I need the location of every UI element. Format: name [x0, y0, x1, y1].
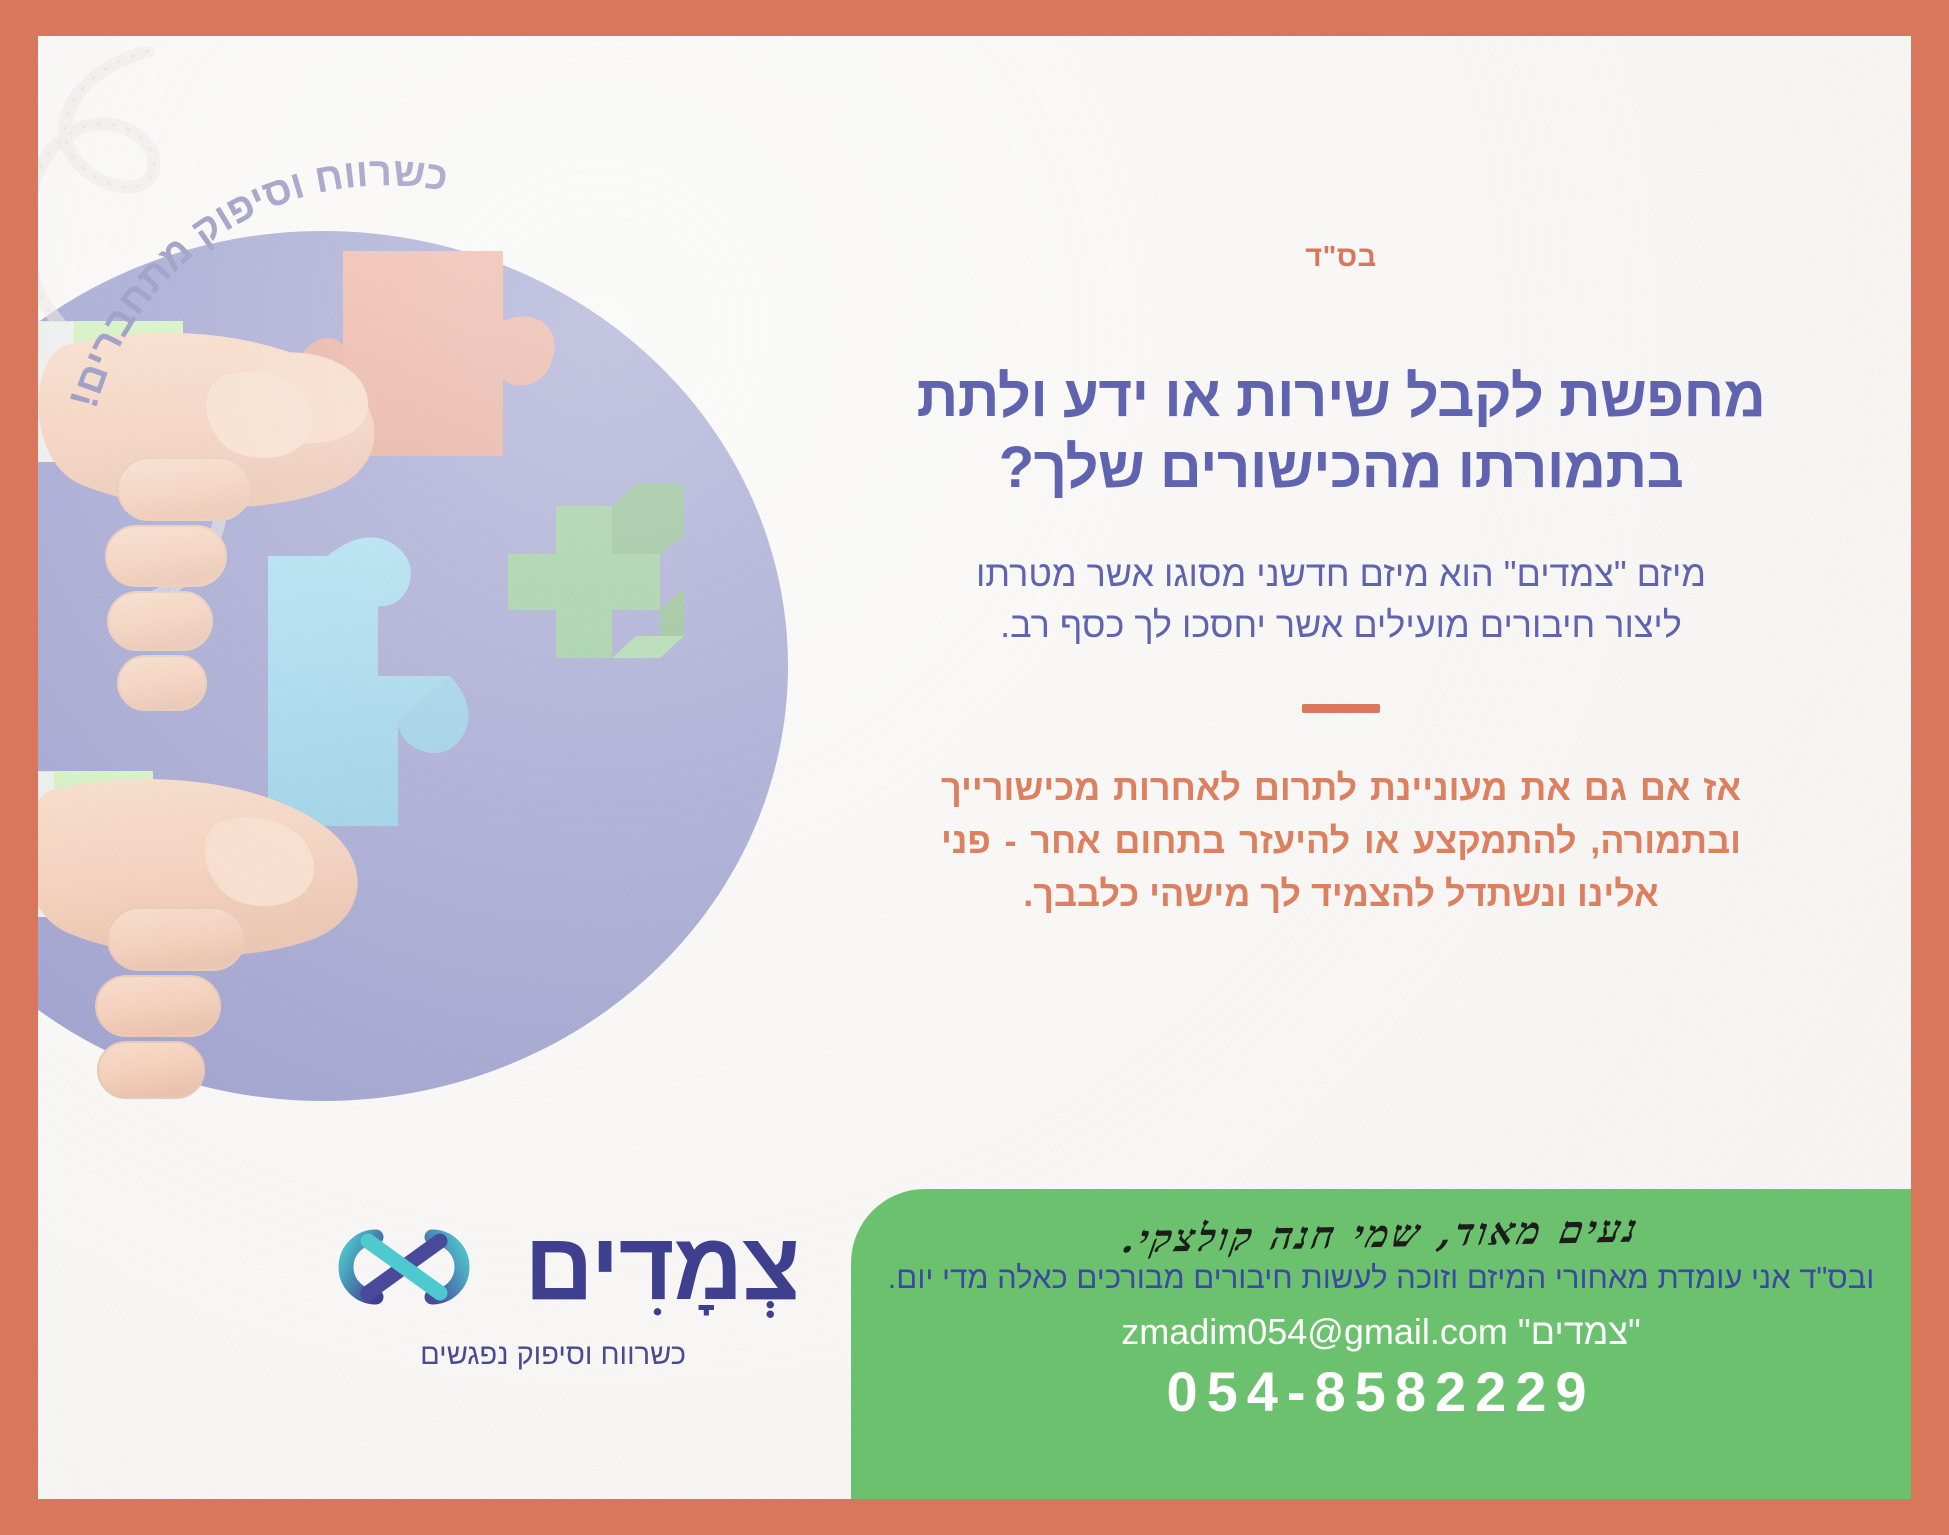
bsd-label: בס"ד: [831, 241, 1851, 274]
illustration: כשרווח וסיפוק מתחברים!: [38, 36, 868, 1276]
lower-hand: [38, 779, 358, 1098]
cta-paragraph: אז אם גם את מעוניינת לתרום לאחרות מכישור…: [941, 761, 1741, 921]
page-title: מחפשת לקבל שירות או ידע ולתת בתמורתו מהכ…: [886, 362, 1796, 504]
contact-footer: נעים מאוד, שמי חנה קולצקי. ובס"ד אני עומ…: [851, 1189, 1911, 1499]
curved-badge-text: כשרווח וסיפוק מתחברים!: [62, 156, 451, 412]
poster-frame: כשרווח וסיפוק מתחברים!: [0, 0, 1949, 1535]
puzzle-piece-blue: [268, 537, 469, 826]
logo-tagline: כשרווח וסיפוק נפגשים: [233, 1339, 873, 1372]
brand-logo: צְמָדִים: [233, 1211, 873, 1421]
footer-paragraph: ובס"ד אני עומדת מאחורי המיזם וזוכה לעשות…: [851, 1259, 1911, 1297]
curved-badge: כשרווח וסיפוק מתחברים!: [48, 156, 688, 516]
infinity-icon: [306, 1211, 502, 1323]
email-brand-label: "צמדים": [1518, 1311, 1641, 1352]
email-address[interactable]: zmadim054@gmail.com: [1121, 1311, 1508, 1352]
phone-number[interactable]: 054-8582229: [851, 1359, 1911, 1424]
svg-text:כשרווח וסיפוק מתחברים!: כשרווח וסיפוק מתחברים!: [62, 156, 451, 412]
logo-wordmark: צְמָדִים: [524, 1219, 799, 1315]
poster-card: כשרווח וסיפוק מתחברים!: [38, 36, 1911, 1499]
section-divider: [1302, 704, 1380, 713]
handwritten-signature: נעים מאוד, שמי חנה קולצקי.: [851, 1200, 1911, 1268]
intro-paragraph: מיזם "צמדים" הוא מיזם חדשני מסוגו אשר מט…: [971, 548, 1711, 650]
email-line[interactable]: "צמדים" zmadim054@gmail.com: [851, 1311, 1911, 1353]
